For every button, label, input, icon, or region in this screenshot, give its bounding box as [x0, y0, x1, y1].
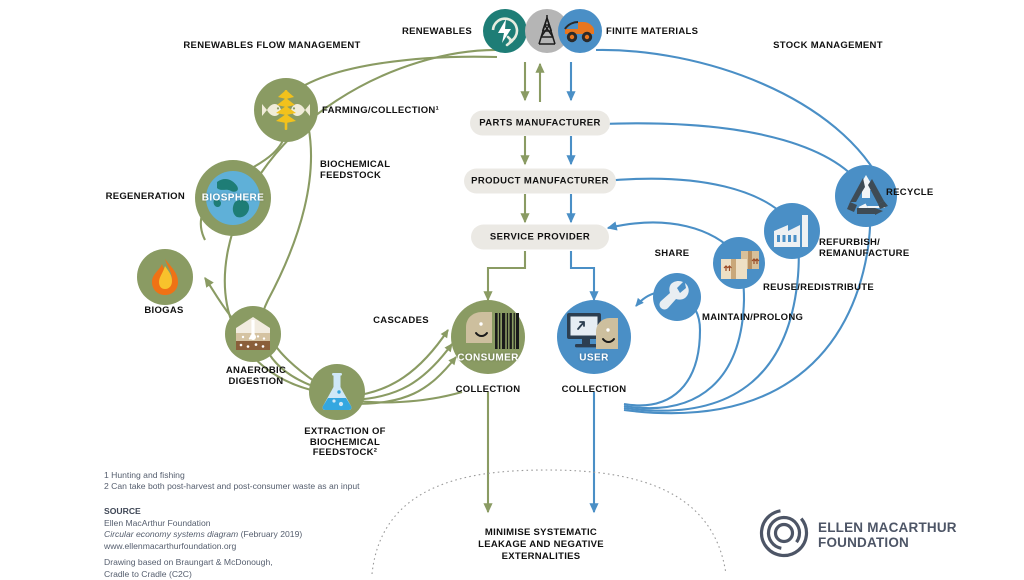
- biogas-label: BIOGAS: [144, 306, 183, 317]
- renewables-icon: [483, 9, 527, 53]
- source-credit-line-2: Cradle to Cradle (C2C): [104, 569, 302, 580]
- logo-line-2: FOUNDATION: [818, 536, 957, 551]
- share-label: SHARE: [655, 249, 690, 260]
- biogas-icon: [137, 249, 193, 305]
- service-provider-node[interactable]: SERVICE PROVIDER: [471, 225, 609, 250]
- footnote-2: 2 Can take both post-harvest and post-co…: [104, 481, 360, 493]
- renewables-label: RENEWABLES: [402, 27, 472, 38]
- consumer-collection-label: COLLECTION: [456, 385, 521, 396]
- extraction-flask-icon: [309, 364, 365, 420]
- extraction-label: EXTRACTION OF BIOCHEMICAL FEEDSTOCK²: [304, 427, 385, 459]
- user-collection-label: COLLECTION: [562, 385, 627, 396]
- biosphere-icon: [195, 160, 271, 236]
- stock-management-heading: STOCK MANAGEMENT: [773, 41, 883, 52]
- regeneration-label: REGENERATION: [106, 192, 185, 203]
- bottom-message: MINIMISE SYSTEMATIC LEAKAGE AND NEGATIVE…: [478, 527, 604, 563]
- refurbish-factory-icon: [764, 203, 820, 259]
- product-manufacturer-node[interactable]: PRODUCT MANUFACTURER: [464, 169, 616, 194]
- user-icon: [557, 300, 631, 374]
- biochemical-feedstock-label: BIOCHEMICAL FEEDSTOCK: [320, 160, 390, 181]
- source-work-title: Circular economy systems diagram: [104, 529, 238, 539]
- source-credit-line-1: Drawing based on Braungart & McDonough,: [104, 557, 302, 569]
- recycle-label: RECYCLE: [886, 188, 934, 199]
- anaerobic-digestion-label: ANAEROBIC DIGESTION: [226, 366, 286, 387]
- source-heading: SOURCE: [104, 506, 141, 516]
- share-wrench-icon: [653, 273, 701, 321]
- parts-manufacturer-node[interactable]: PARTS MANUFACTURER: [470, 111, 610, 136]
- refurbish-remanufacture-label: REFURBISH/ REMANUFACTURE: [819, 238, 909, 259]
- cascades-label: CASCADES: [373, 316, 429, 327]
- logo-line-1: ELLEN MACARTHUR: [818, 521, 957, 536]
- consumer-icon: [451, 300, 525, 374]
- emf-logo-mark: [752, 501, 815, 564]
- source-work-date: (February 2019): [238, 529, 302, 539]
- farming-collection-label: FARMING/COLLECTION¹: [322, 106, 439, 117]
- mining-truck-icon: [558, 9, 602, 53]
- source-url[interactable]: www.ellenmacarthurfoundation.org: [104, 541, 302, 553]
- reuse-redistribute-icon: [713, 237, 765, 289]
- footnote-1: 1 Hunting and fishing: [104, 470, 185, 482]
- diagram-canvas: RENEWABLES FINITE MATERIALS RENEWABLES F…: [0, 0, 1024, 576]
- farming-collection-icon: [254, 78, 318, 142]
- reuse-redistribute-label: REUSE/REDISTRIBUTE: [763, 283, 874, 294]
- maintain-prolong-label: MAINTAIN/PROLONG: [702, 313, 803, 324]
- renewables-flow-management-heading: RENEWABLES FLOW MANAGEMENT: [183, 41, 360, 52]
- anaerobic-digestion-icon: [225, 306, 281, 362]
- finite-materials-label: FINITE MATERIALS: [606, 27, 698, 38]
- source-org: Ellen MacArthur Foundation: [104, 518, 302, 530]
